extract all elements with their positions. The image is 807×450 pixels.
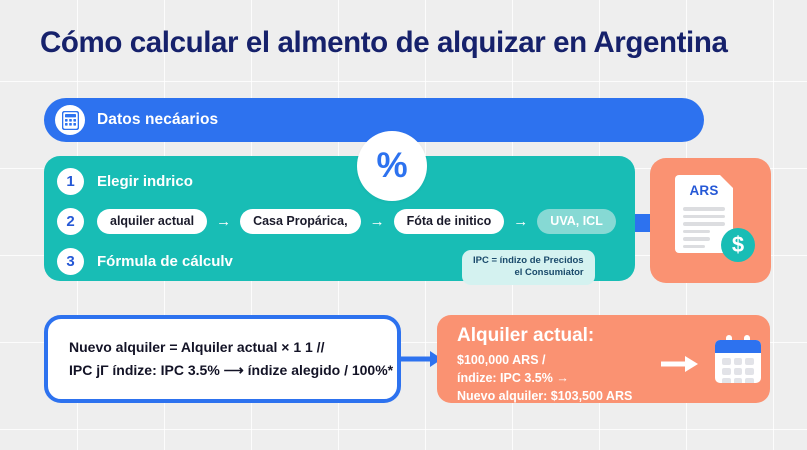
- document-text-line: [683, 237, 710, 241]
- percent-symbol: %: [376, 148, 407, 183]
- calculator-icon-glyph: [62, 111, 79, 130]
- calendar-day-cell: [734, 358, 743, 365]
- step-row-2: 2 alquiler actual → Casa Propárica, → Fó…: [57, 208, 616, 235]
- ars-label: ARS: [675, 183, 733, 198]
- step-row-1: 1 Elegir indrico: [57, 168, 193, 195]
- calendar-day-cell: [722, 368, 731, 375]
- calendar-day-cell: [745, 358, 754, 365]
- chip-flow: alquiler actual → Casa Propárica, → Fóta…: [97, 209, 616, 235]
- document-text-line: [683, 222, 725, 226]
- result-line-3: Nuevo alquiler: $103,500 ARS: [457, 387, 632, 405]
- chip-arrow-icon-3: →: [513, 214, 528, 229]
- ars-document-card: ARS $: [650, 158, 771, 283]
- result-line-2: índize: IPC 3.5% →: [457, 369, 632, 387]
- chip-alquiler-actual[interactable]: alquiler actual: [97, 209, 207, 235]
- step-number-2: 2: [57, 208, 84, 235]
- calendar-icon: [715, 335, 761, 383]
- step-label-3: Fórmula de cálculv: [97, 253, 233, 270]
- chip-casa-proparica[interactable]: Casa Propárica,: [240, 209, 361, 235]
- result-line-1: $100,000 ARS /: [457, 351, 632, 369]
- formula-line-2: IPC jΓ índize: IPC 3.5% ⟶ índize alegido…: [69, 359, 397, 382]
- chip-arrow-icon-2: →: [370, 214, 385, 229]
- ipc-note-line-2: el Consumiator: [473, 267, 584, 279]
- result-title: Alquiler actual:: [457, 325, 594, 347]
- banner-label: Datos necáarios: [97, 111, 218, 129]
- step-row-3: 3 Fórmula de cálculv: [57, 248, 233, 275]
- calendar-day-cell: [722, 378, 731, 383]
- infographic-canvas: Cómo calcular el almento de alquizar en …: [0, 0, 807, 450]
- calendar-day-cell: [745, 378, 754, 383]
- document-text-line: [683, 245, 705, 249]
- calendar-day-cell: [734, 368, 743, 375]
- percent-badge: %: [357, 131, 427, 201]
- ipc-definition-note: IPC = índizo de Precidos el Consumiator: [462, 250, 595, 285]
- chip-uva-icl[interactable]: UVA, ICL: [537, 209, 616, 235]
- page-title: Cómo calcular el almento de alquizar en …: [40, 26, 770, 60]
- calendar-grid: [715, 353, 761, 383]
- document-text-line: [683, 230, 710, 234]
- chip-fota-de-initico[interactable]: Fóta de initico: [394, 209, 505, 235]
- formula-line-1: Nuevo alquiler = Alquiler actual × 1 1 /…: [69, 336, 397, 359]
- document-text-line: [683, 215, 725, 219]
- calculator-icon: [55, 105, 85, 135]
- calendar-header: [715, 340, 761, 353]
- step-number-1: 1: [57, 168, 84, 195]
- formula-box: Nuevo alquiler = Alquiler actual × 1 1 /…: [44, 315, 401, 403]
- result-panel: Alquiler actual: $100,000 ARS / índize: …: [437, 315, 770, 403]
- step-label-1: Elegir indrico: [97, 173, 193, 190]
- step-number-3: 3: [57, 248, 84, 275]
- calendar-body: [715, 340, 761, 383]
- result-lines: $100,000 ARS / índize: IPC 3.5% → Nuevo …: [457, 351, 632, 405]
- ipc-note-line-1: IPC = índizo de Precidos: [473, 255, 584, 267]
- calendar-day-cell: [745, 368, 754, 375]
- result-arrow-icon: [659, 353, 701, 375]
- calendar-day-cell: [734, 378, 743, 383]
- dollar-badge: $: [721, 228, 755, 262]
- dollar-symbol: $: [732, 234, 744, 256]
- document-text-line: [683, 207, 725, 211]
- calendar-day-cell: [722, 358, 731, 365]
- chip-arrow-icon-1: →: [216, 214, 231, 229]
